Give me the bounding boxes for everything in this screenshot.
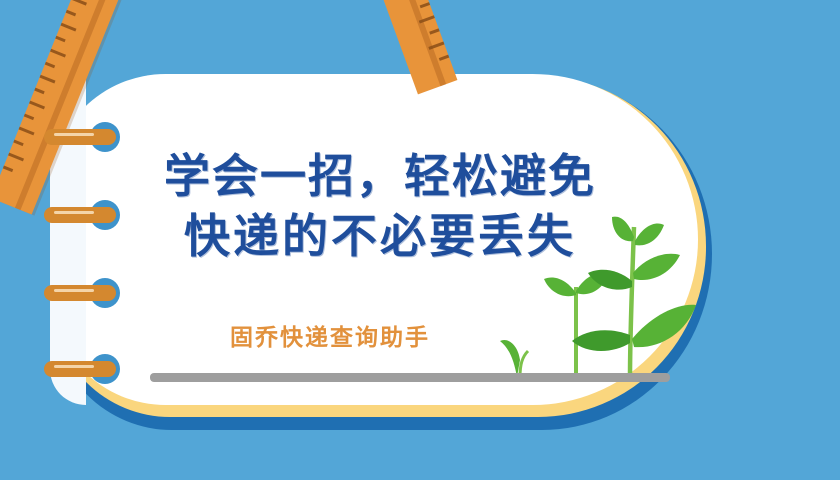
binding-gloss — [54, 211, 94, 214]
binding-gloss — [54, 133, 94, 136]
binding-bar — [44, 207, 116, 223]
ground-line — [150, 373, 670, 382]
headline-line-1: 学会一招，轻松避免 — [120, 146, 640, 206]
page-title: 学会一招，轻松避免 快递的不必要丢失 — [120, 146, 640, 266]
binding-ring — [44, 282, 120, 304]
page-subtitle: 固乔快递查询助手 — [120, 318, 540, 352]
plant-medium — [544, 274, 608, 377]
binding-ring — [44, 204, 120, 226]
binding-bar — [44, 361, 116, 377]
headline-line-2: 快递的不必要丢失 — [120, 206, 640, 266]
binding-bar — [44, 285, 116, 301]
binding-bar — [44, 129, 116, 145]
binding-gloss — [54, 289, 94, 292]
binding-ring — [44, 358, 120, 380]
binding-gloss — [54, 365, 94, 368]
binding-ring — [44, 126, 120, 148]
poster-canvas: 学会一招，轻松避免 快递的不必要丢失 固乔快递查询助手 — [0, 0, 840, 480]
